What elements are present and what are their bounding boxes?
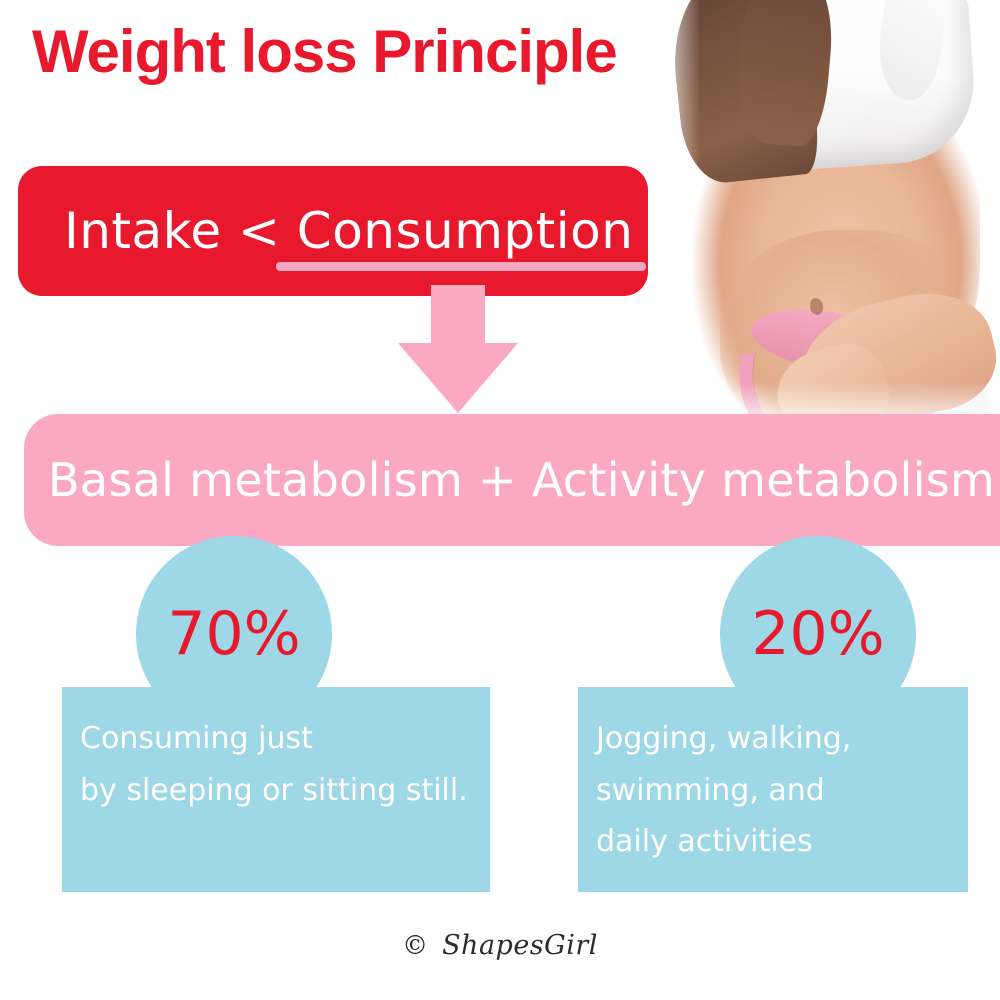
equation-banner: Intake < Consumption: [18, 166, 648, 296]
photo-woman-waist-measure: [630, 0, 1000, 430]
percentage-label-activity: 20%: [751, 604, 884, 664]
description-line: swimming, and: [596, 765, 968, 817]
formula-banner-text: Basal metabolism + Activity metabolism: [48, 453, 995, 507]
infographic-canvas: Weight loss Principle Intake < Consumpti…: [0, 0, 1000, 1000]
description-line: Jogging, walking,: [596, 713, 968, 765]
equation-emphasis-underline: [276, 262, 646, 271]
formula-banner: Basal metabolism + Activity metabolism: [24, 414, 1000, 546]
description-line: daily activities: [596, 816, 968, 868]
footer-watermark: © ShapesGirl: [0, 930, 1000, 961]
brand-name: ShapesGirl: [442, 930, 598, 961]
equation-banner-text: Intake < Consumption: [64, 202, 633, 260]
arrow-down-icon: [388, 285, 528, 415]
description-box-activity: Jogging, walking, swimming, and daily ac…: [578, 687, 968, 892]
description-line: Consuming just: [80, 713, 490, 765]
page-title: Weight loss Principle: [32, 22, 617, 82]
copyright-icon: ©: [402, 931, 428, 961]
description-box-basal: Consuming just by sleeping or sitting st…: [62, 687, 490, 892]
percentage-label-basal: 70%: [167, 604, 300, 664]
description-line: by sleeping or sitting still.: [80, 765, 490, 817]
